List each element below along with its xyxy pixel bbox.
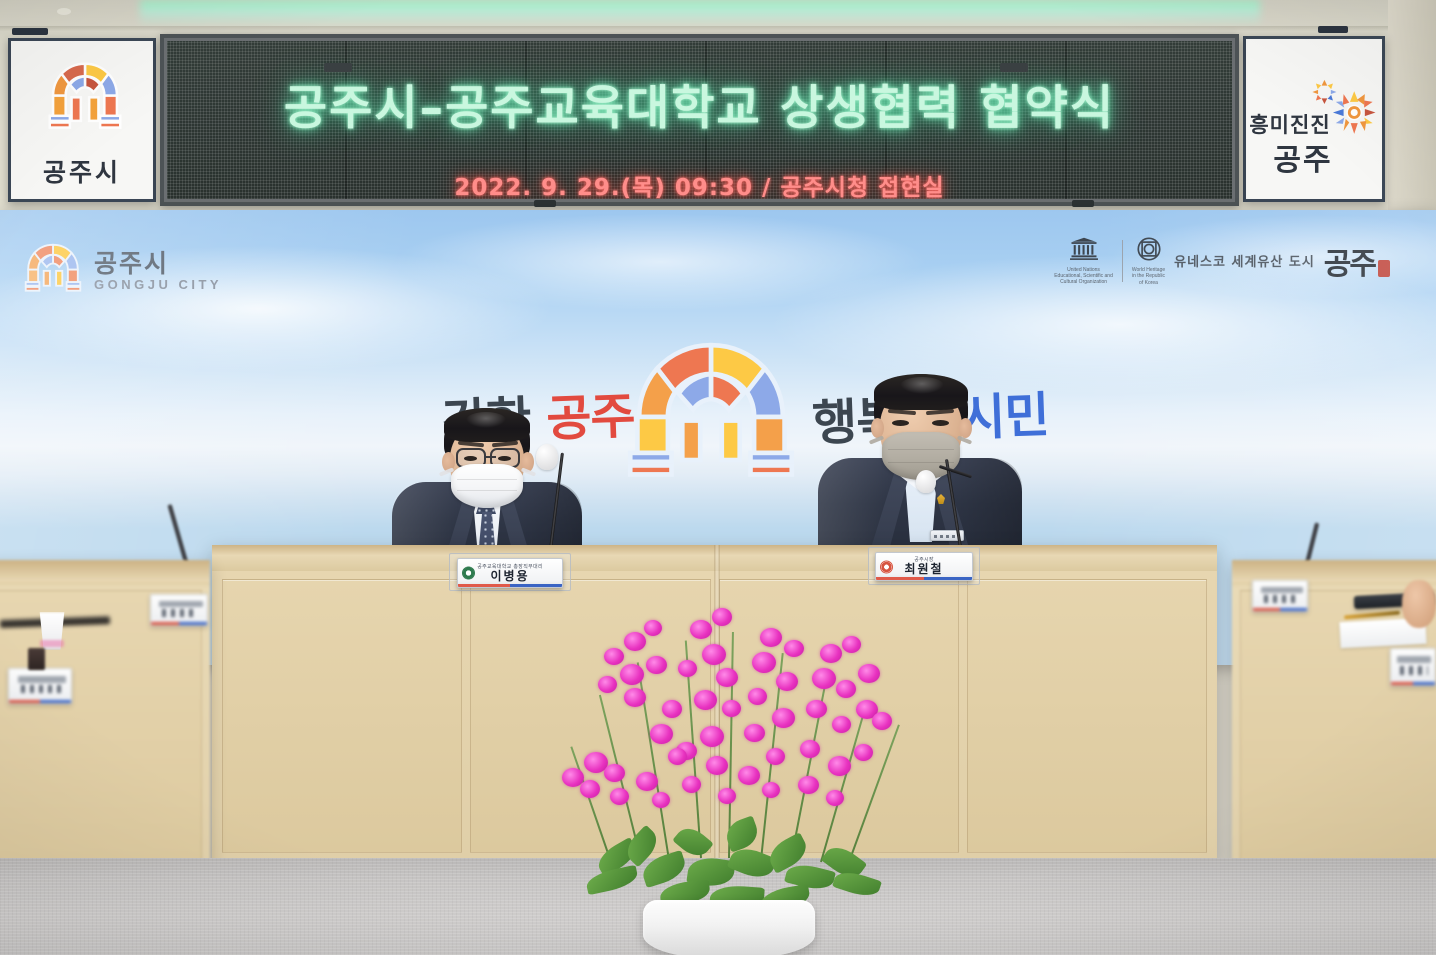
gongju-calligraphy-text: 공주 (1324, 247, 1375, 282)
unesco-label-text: 유네스코 세계유산 도시 (1174, 251, 1315, 270)
microphone-windscreen (536, 444, 558, 470)
seal-icon (1378, 260, 1390, 277)
world-heritage-emblem-icon: World Heritagein the Republicof Korea (1132, 236, 1165, 286)
backdrop-center-arch-icon (620, 338, 802, 483)
led-title-text: 공주시–공주교육대학교 상생협력 협약식 (167, 69, 1232, 138)
panel-left-mount (12, 28, 48, 35)
eye-right (498, 456, 511, 461)
photo-scene: 공주시 (0, 0, 1436, 955)
table-top-surface (0, 560, 210, 582)
wall-sign-left: 공주시 (8, 38, 156, 202)
city-emblem-icon (880, 560, 893, 573)
gongju-arch-icon (22, 240, 84, 303)
wall-sign-right: 흥미진진 공주 (1243, 36, 1385, 202)
wall-sign-right-label: 공주 (1243, 135, 1382, 179)
nameplate-accent-bar (458, 584, 562, 587)
backdrop-logo-kr: 공주시 (94, 251, 222, 277)
nameplate-foreground-left-b (8, 668, 72, 704)
unesco-heritage-block: United NationsEducational, Scientific an… (1054, 236, 1390, 286)
paper-cup-band (40, 640, 64, 647)
table-panel (967, 579, 1207, 853)
led-display-board: 공주시–공주교육대학교 상생협력 협약식 2022. 9. 29.(목) 09:… (160, 34, 1239, 206)
led-mount-bracket (1000, 63, 1028, 72)
led-glow-reflection (140, 0, 1260, 26)
right-wall-column (1388, 0, 1436, 232)
gongju-arch-icon (43, 57, 127, 146)
flower-pot (643, 900, 815, 955)
glasses-bridge (486, 456, 496, 458)
unesco-caption-left: United NationsEducational, Scientific an… (1054, 267, 1113, 286)
ceiling-trim (0, 26, 1436, 31)
unesco-emblem-icon: United NationsEducational, Scientific an… (1054, 237, 1113, 286)
backdrop-logo-en: GONGJU CITY (94, 277, 222, 292)
nameplate-foreground-right-a (1252, 580, 1308, 612)
eye-left (892, 420, 909, 426)
hair-highlight (900, 377, 944, 394)
unesco-divider (1122, 240, 1123, 282)
led-bottom-bracket (1072, 200, 1094, 207)
hair-highlight (466, 412, 506, 428)
small-dark-box (28, 648, 45, 670)
panel-right-mount (1318, 26, 1348, 33)
nameplate-left-name: 이병용 (490, 570, 529, 583)
ear-right (959, 418, 972, 438)
eye-right (932, 420, 949, 426)
backdrop-gongju-logo: 공주시 GONGJU CITY (22, 240, 222, 303)
nameplate-left: 공주교육대학교 총장직무대리 이병용 (457, 558, 563, 588)
eye-left (464, 456, 477, 461)
nameplate-right-name: 최원철 (904, 563, 943, 576)
ceiling-sensor-icon (57, 8, 71, 15)
table-top-surface (1232, 560, 1436, 582)
microphone-windscreen (916, 470, 936, 493)
nameplate-foreground-right-b (1390, 648, 1436, 686)
led-bottom-bracket (534, 200, 556, 207)
nameplate-right: 공주시장 최원철 (875, 552, 973, 581)
led-mount-bracket (324, 63, 352, 72)
table-panel (222, 579, 462, 853)
nameplate-accent-bar (876, 577, 972, 580)
face-mask (451, 464, 523, 508)
wall-sign-left-label: 공주시 (11, 153, 153, 189)
led-subtitle-text: 2022. 9. 29.(목) 09:30 / 공주시청 접현실 (167, 168, 1232, 199)
unesco-caption-right: World Heritagein the Republicof Korea (1132, 267, 1165, 286)
nameplate-foreground-left-a (150, 594, 208, 626)
table-front-panel (0, 590, 202, 862)
university-emblem-icon (462, 567, 475, 580)
hand-foreground-right (1402, 580, 1436, 628)
